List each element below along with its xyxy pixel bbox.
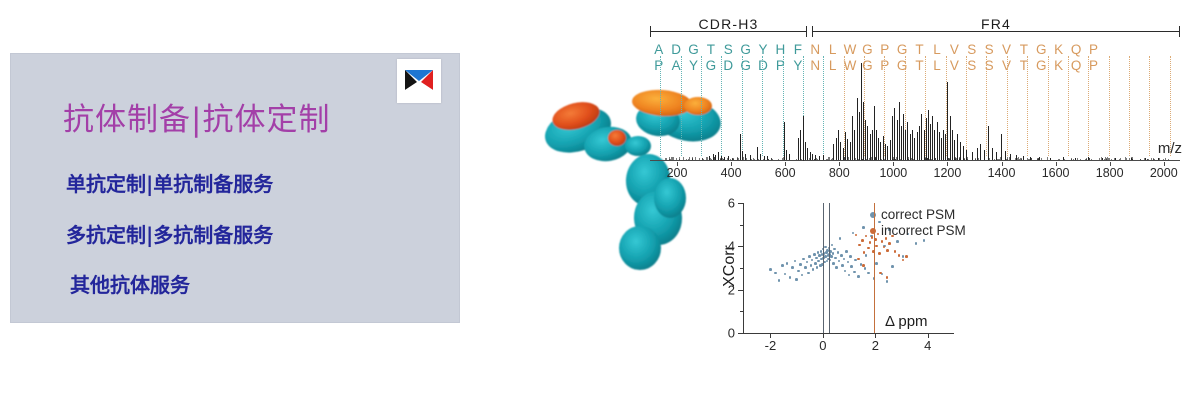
spectrum-peak xyxy=(919,126,920,160)
sequence-residue: F xyxy=(789,42,806,57)
spectrum-noise xyxy=(695,157,696,160)
scatter-point xyxy=(902,259,905,262)
spectrum-peak xyxy=(838,130,839,160)
spectrum-noise xyxy=(720,159,721,160)
spectrum-noise xyxy=(895,159,896,160)
scatter-point xyxy=(808,255,811,258)
scatter-point xyxy=(886,276,889,279)
scatter-point xyxy=(797,270,800,273)
legend-label: correct PSM xyxy=(881,207,955,223)
scatter-reference-line xyxy=(874,203,875,333)
scatter-point xyxy=(832,252,835,255)
spectrum-peak xyxy=(800,130,801,160)
spectrum-noise xyxy=(929,159,930,160)
spectrum-peak xyxy=(878,138,879,160)
spectrum-peak xyxy=(980,144,981,160)
sequence-residue: G xyxy=(685,42,702,57)
scatter-point xyxy=(817,260,820,263)
scatter-point xyxy=(865,254,868,257)
spectrum-noise xyxy=(743,157,744,160)
service-link-monoclonal[interactable]: 单抗定制|单抗制备服务 xyxy=(66,168,273,197)
spectrum-noise xyxy=(914,158,915,160)
spectrum-peak xyxy=(874,106,875,160)
spectrum-noise xyxy=(1144,158,1145,160)
spectrum-noise xyxy=(988,158,989,160)
antibody-service-panel: 抗体制备|抗体定制 单抗定制|单抗制备服务 多抗定制|多抗制备服务 其他抗体服务 xyxy=(10,53,460,323)
spectrum-noise xyxy=(984,159,985,160)
spectrum-noise xyxy=(1000,157,1001,160)
spectrum-noise xyxy=(730,159,731,160)
spectrum-peak xyxy=(798,138,799,160)
scatter-point xyxy=(869,241,872,244)
spectrum-peak xyxy=(718,152,719,160)
spectrum-noise xyxy=(1089,158,1090,160)
scatter-point xyxy=(857,258,860,261)
spectrum-noise xyxy=(1153,159,1154,160)
spectrum-peak xyxy=(928,110,929,160)
spectrum-noise xyxy=(732,158,733,160)
spectrum-noise xyxy=(1140,159,1141,160)
scatter-point xyxy=(774,272,777,275)
spectrum-peak xyxy=(1001,134,1002,160)
spectrum-noise xyxy=(754,159,755,160)
region-label-cdr-h3: CDR-H3 xyxy=(650,16,807,32)
spectrum-peak xyxy=(740,134,741,160)
spectrum-noise xyxy=(1063,158,1064,160)
scatter-point xyxy=(845,250,848,253)
spectrum-noise xyxy=(1114,158,1115,160)
scatter-point xyxy=(886,249,889,252)
spectrum-noise xyxy=(737,157,738,160)
spectrum-noise xyxy=(1085,159,1086,160)
spectrum-noise xyxy=(900,159,901,160)
scatter-point xyxy=(801,274,804,277)
region-cdr-h3: CDR-H3 xyxy=(650,18,807,36)
spectrum-noise xyxy=(832,158,833,160)
spectrum-peak xyxy=(845,132,846,160)
spectrum-peak xyxy=(930,124,931,160)
spectrum-noise xyxy=(844,157,845,160)
sequence-residue: G xyxy=(737,42,754,57)
spectrum-noise xyxy=(937,158,938,160)
scatter-point xyxy=(807,272,810,275)
scatter-point xyxy=(857,275,860,278)
spectrum-peak xyxy=(894,108,895,160)
scatter-point xyxy=(888,242,891,245)
scatter-point xyxy=(832,262,835,265)
spectrum-noise xyxy=(738,158,739,160)
scatter-point xyxy=(789,276,792,279)
spectrum-noise xyxy=(1064,159,1065,160)
spectrum-noise xyxy=(666,158,667,160)
spectrum-noise xyxy=(679,159,680,160)
scatter-point xyxy=(826,260,829,263)
scatter-point xyxy=(838,260,841,263)
spectrum-peak xyxy=(859,112,860,160)
spectrum-noise xyxy=(1132,159,1133,160)
spectrum-peak xyxy=(910,134,911,160)
scatter-point xyxy=(847,261,850,264)
spectrum-noise xyxy=(884,159,885,160)
spectrum-noise xyxy=(862,159,863,160)
sequence-residue: A xyxy=(650,42,667,57)
scatter-point xyxy=(811,259,814,262)
spectrum-peak xyxy=(899,102,900,160)
scatter-point xyxy=(862,226,865,229)
spectrum-noise xyxy=(919,157,920,160)
spectrum-peak xyxy=(912,130,913,160)
spectrum-peak xyxy=(897,120,898,160)
spectrum-noise xyxy=(828,157,829,160)
scatter-y-tick xyxy=(738,333,743,334)
scatter-point xyxy=(861,239,864,242)
spectrum-noise xyxy=(724,158,725,160)
scatter-point xyxy=(786,262,789,265)
scatter-x-tick-label: -2 xyxy=(765,338,777,353)
spectrum-noise xyxy=(1041,158,1042,160)
spectrum-noise xyxy=(803,159,804,160)
scatter-point xyxy=(850,265,853,268)
sequence-residue: P xyxy=(876,42,893,57)
spectrum-noise xyxy=(992,158,993,160)
scatter-point xyxy=(802,258,805,261)
spectrum-noise xyxy=(1148,159,1149,160)
spectrum-noise xyxy=(727,158,728,160)
spectrum-peak xyxy=(932,116,933,160)
spectrum-noise xyxy=(1031,158,1032,160)
spectrum-noise xyxy=(1165,158,1166,160)
spectrum-peak xyxy=(852,116,853,160)
spectrum-noise xyxy=(1015,158,1016,160)
legend-label: incorrect PSM xyxy=(881,223,966,239)
spectrum-noise xyxy=(964,158,965,160)
spectrum-noise xyxy=(1106,159,1107,160)
scatter-point xyxy=(843,258,846,261)
sequence-residue: S xyxy=(720,42,737,57)
spectrum-noise xyxy=(683,157,684,160)
spectrum-noise xyxy=(801,159,802,160)
spectrum-noise xyxy=(1007,159,1008,160)
scatter-point xyxy=(852,232,855,235)
spectrum-noise xyxy=(763,159,764,160)
mz-tick-label: 400 xyxy=(721,166,742,180)
mz-tick-label: 200 xyxy=(667,166,688,180)
sequence-residue: G xyxy=(859,42,876,57)
sequence-residue: S xyxy=(980,42,997,57)
sequence-residue: V xyxy=(998,42,1015,57)
spectrum-noise xyxy=(1105,157,1106,160)
scatter-point xyxy=(812,268,815,271)
scatter-legend: correct PSMincorrect PSM xyxy=(870,207,966,239)
sequence-residue: T xyxy=(1015,42,1032,57)
spectrum-peak xyxy=(941,138,942,160)
scatter-y-tick-minor xyxy=(740,225,743,226)
scatter-point xyxy=(867,247,870,250)
scatter-point xyxy=(835,266,838,269)
spectrum-peak xyxy=(803,116,804,160)
spectrum-noise xyxy=(881,159,882,160)
spectrum-noise xyxy=(768,159,769,160)
spectrum-peak xyxy=(805,142,806,160)
antibody-sequencing-figure: CDR-H3 FR4 ADGTSGYHFNLWGPGTLVSSVTGKQP PA… xyxy=(520,0,1200,400)
mz-tick-label: 600 xyxy=(775,166,796,180)
sequence-residue: K xyxy=(1050,42,1067,57)
spectrum-noise xyxy=(676,158,677,160)
scatter-point xyxy=(881,240,884,243)
spectrum-noise xyxy=(778,159,779,160)
sequence-residue: D xyxy=(667,42,684,57)
spectrum-noise xyxy=(1077,158,1078,160)
spectrum-noise xyxy=(1073,159,1074,160)
spectrum-noise xyxy=(935,158,936,160)
sequence-residue: Q xyxy=(1067,42,1084,57)
scatter-point xyxy=(855,234,858,237)
spectrum-peak xyxy=(1102,158,1103,160)
scatter-reference-line xyxy=(829,203,830,333)
spectrum-noise xyxy=(699,158,700,160)
spectrum-noise xyxy=(896,157,897,160)
sequence-residue: G xyxy=(893,42,910,57)
scatter-point xyxy=(894,250,897,253)
scatter-y-tick-label: 4 xyxy=(723,239,735,254)
mz-tick-label: 2000 xyxy=(1150,166,1178,180)
scatter-y-tick xyxy=(738,246,743,247)
spectrum-peak xyxy=(850,142,851,160)
spectrum-noise xyxy=(908,159,909,160)
scatter-point xyxy=(834,257,837,260)
spectrum-noise xyxy=(689,157,690,160)
spectrum-noise xyxy=(903,159,904,160)
mz-tick-label: 1800 xyxy=(1096,166,1124,180)
spectrum-noise xyxy=(911,158,912,160)
spectrum-noise xyxy=(874,159,875,160)
spectrum-noise xyxy=(1021,159,1022,160)
spectrum-noise xyxy=(831,159,832,160)
spectrum-peak xyxy=(988,126,989,160)
scatter-x-tick-label: 0 xyxy=(819,338,826,353)
spectrum-noise xyxy=(767,159,768,160)
spectrum-noise xyxy=(1101,157,1102,160)
scatter-y-tick xyxy=(738,290,743,291)
spectrum-noise xyxy=(669,157,670,160)
spectrum-peak xyxy=(789,154,790,160)
scatter-point xyxy=(806,261,809,264)
scatter-point xyxy=(817,251,820,254)
spectrum-noise xyxy=(1120,158,1121,160)
spectrum-noise xyxy=(876,158,877,160)
scatter-y-tick-label: 2 xyxy=(723,282,735,297)
legend-item: incorrect PSM xyxy=(870,223,966,239)
scatter-point xyxy=(878,252,881,255)
spectrum-peak xyxy=(914,138,915,160)
spectrum-noise xyxy=(945,158,946,160)
sequence-residue: T xyxy=(702,42,719,57)
spectrum-peak xyxy=(892,116,893,160)
spectrum-baseline xyxy=(650,160,1180,161)
spectrum-peak xyxy=(901,126,902,160)
spectrum-noise xyxy=(1010,158,1011,160)
spectrum-noise xyxy=(745,157,746,160)
spectrum-noise xyxy=(1029,159,1030,160)
spectrum-noise xyxy=(758,159,759,160)
region-label-fr4: FR4 xyxy=(812,16,1180,32)
scatter-point xyxy=(824,246,827,249)
scatter-point xyxy=(915,242,918,245)
scatter-point xyxy=(902,255,905,258)
spectrum-peak xyxy=(926,118,927,160)
scatter-y-tick-label: 6 xyxy=(723,196,735,211)
spectrum-peak xyxy=(870,134,871,160)
spectrum-peak xyxy=(876,130,877,160)
scatter-point xyxy=(816,266,819,269)
spectrum-noise xyxy=(1050,158,1051,160)
spectrum-peak xyxy=(883,136,884,160)
mz-tick-label: 1200 xyxy=(934,166,962,180)
mz-tick-label: 1600 xyxy=(1042,166,1070,180)
scatter-y-tick-label: 0 xyxy=(723,326,735,341)
spectrum-noise xyxy=(972,158,973,160)
scatter-point xyxy=(831,244,834,247)
scatter-point xyxy=(833,248,836,251)
spectrum-peak xyxy=(1023,156,1024,160)
sequence-residue: G xyxy=(1033,42,1050,57)
scatter-y-tick xyxy=(738,203,743,204)
spectrum-noise xyxy=(760,158,761,160)
spectrum-noise xyxy=(1129,158,1130,160)
spectrum-peak xyxy=(863,102,864,160)
spectrum-noise xyxy=(957,159,958,160)
scatter-x-tick-label: 2 xyxy=(872,338,879,353)
spectrum-noise xyxy=(840,159,841,160)
service-link-other[interactable]: 其他抗体服务 xyxy=(70,269,190,298)
spectrum-noise xyxy=(733,159,734,160)
spectrum-noise xyxy=(1080,159,1081,160)
scatter-point xyxy=(815,257,818,260)
scatter-point xyxy=(867,272,870,275)
tri-color-arrow-logo-icon xyxy=(402,66,436,96)
scatter-point xyxy=(858,244,861,247)
spectrum-noise xyxy=(1163,159,1164,160)
scatter-point xyxy=(781,264,784,267)
spectrum-noise xyxy=(1126,158,1127,160)
scatter-reference-line xyxy=(823,203,824,333)
sequence-residue: S xyxy=(963,42,980,57)
spectrum-noise xyxy=(931,159,932,160)
scatter-point xyxy=(810,264,813,267)
spectrum-peak xyxy=(945,134,946,160)
spectrum-noise xyxy=(955,159,956,160)
scatter-point xyxy=(863,251,866,254)
scatter-point xyxy=(862,264,865,267)
scatter-point xyxy=(879,272,882,275)
spectrum-noise xyxy=(1047,157,1048,160)
spectrum-peak xyxy=(917,132,918,160)
scatter-point xyxy=(875,262,878,265)
scatter-point xyxy=(837,251,840,254)
spectrum-peak xyxy=(857,98,858,160)
scatter-point xyxy=(799,263,802,266)
spectrum-noise xyxy=(714,157,715,160)
sequence-residue: L xyxy=(824,42,841,57)
spectrum-peak xyxy=(952,130,953,160)
scatter-point xyxy=(784,273,787,276)
spectrum-noise xyxy=(672,157,673,160)
spectrum-noise xyxy=(702,158,703,160)
scatter-point xyxy=(841,264,844,267)
spectrum-peak xyxy=(937,122,938,160)
spectrum-noise xyxy=(948,158,949,160)
spectrum-noise xyxy=(796,159,797,160)
psm-scatter-plot: XCorr Δ ppm correct PSMincorrect PSM 024… xyxy=(695,195,965,370)
spectrum-peak xyxy=(907,122,908,160)
spectrum-noise xyxy=(858,159,859,160)
brand-logo xyxy=(397,59,441,103)
scatter-point xyxy=(826,249,829,252)
mz-axis-ticks: 200400600800100012001400160018002000 xyxy=(650,162,1180,182)
spectrum-peak xyxy=(872,130,873,160)
scatter-point xyxy=(848,274,851,277)
legend-item: correct PSM xyxy=(870,207,966,223)
spectrum-noise xyxy=(703,159,704,160)
sequence-residue: Y xyxy=(754,42,771,57)
mass-spectrum-plot: m/z xyxy=(650,56,1180,161)
scatter-point xyxy=(839,237,842,240)
spectrum-noise xyxy=(878,159,879,160)
spectrum-noise xyxy=(998,159,999,160)
spectrum-peak xyxy=(924,130,925,160)
spectrum-noise xyxy=(782,158,783,160)
spectrum-noise xyxy=(809,158,810,160)
spectrum-noise xyxy=(1151,158,1152,160)
spectrum-peak xyxy=(885,144,886,160)
scatter-point xyxy=(840,254,843,257)
sequence-residue: T xyxy=(911,42,928,57)
sequence-residue: H xyxy=(772,42,789,57)
spectrum-noise xyxy=(866,159,867,160)
spectrum-noise xyxy=(1091,159,1092,160)
sequence-row-top: ADGTSGYHFNLWGPGTLVSSVTGKQP xyxy=(650,42,1180,57)
spectrum-noise xyxy=(1168,159,1169,160)
spectrum-noise xyxy=(848,157,849,160)
spectrum-noise xyxy=(1159,158,1160,160)
spectrum-noise xyxy=(711,159,712,160)
spectrum-peak xyxy=(939,132,940,160)
spectrum-peak xyxy=(950,116,951,160)
spectrum-peak xyxy=(854,130,855,160)
spectrum-noise xyxy=(950,159,951,160)
service-link-polyclonal[interactable]: 多抗定制|多抗制备服务 xyxy=(66,219,273,248)
spectrum-noise xyxy=(1099,158,1100,160)
spectrum-peak xyxy=(836,138,837,160)
spectrum-peak xyxy=(865,120,866,160)
spectrum-noise xyxy=(926,158,927,160)
scatter-point xyxy=(795,278,798,281)
spectrum-noise xyxy=(805,158,806,160)
spectrum-noise xyxy=(1071,159,1072,160)
scatter-point xyxy=(791,266,794,269)
mz-tick-label: 1400 xyxy=(988,166,1016,180)
scatter-point xyxy=(830,255,833,258)
legend-dot-icon xyxy=(870,228,876,234)
scatter-point xyxy=(794,260,797,263)
scatter-point xyxy=(864,267,867,270)
spectrum-peak xyxy=(890,140,891,160)
spectrum-peak xyxy=(905,130,906,160)
sequence-residue: L xyxy=(928,42,945,57)
spectrum-peak xyxy=(921,114,922,160)
scatter-point xyxy=(849,255,852,258)
spectrum-peak xyxy=(947,82,948,160)
